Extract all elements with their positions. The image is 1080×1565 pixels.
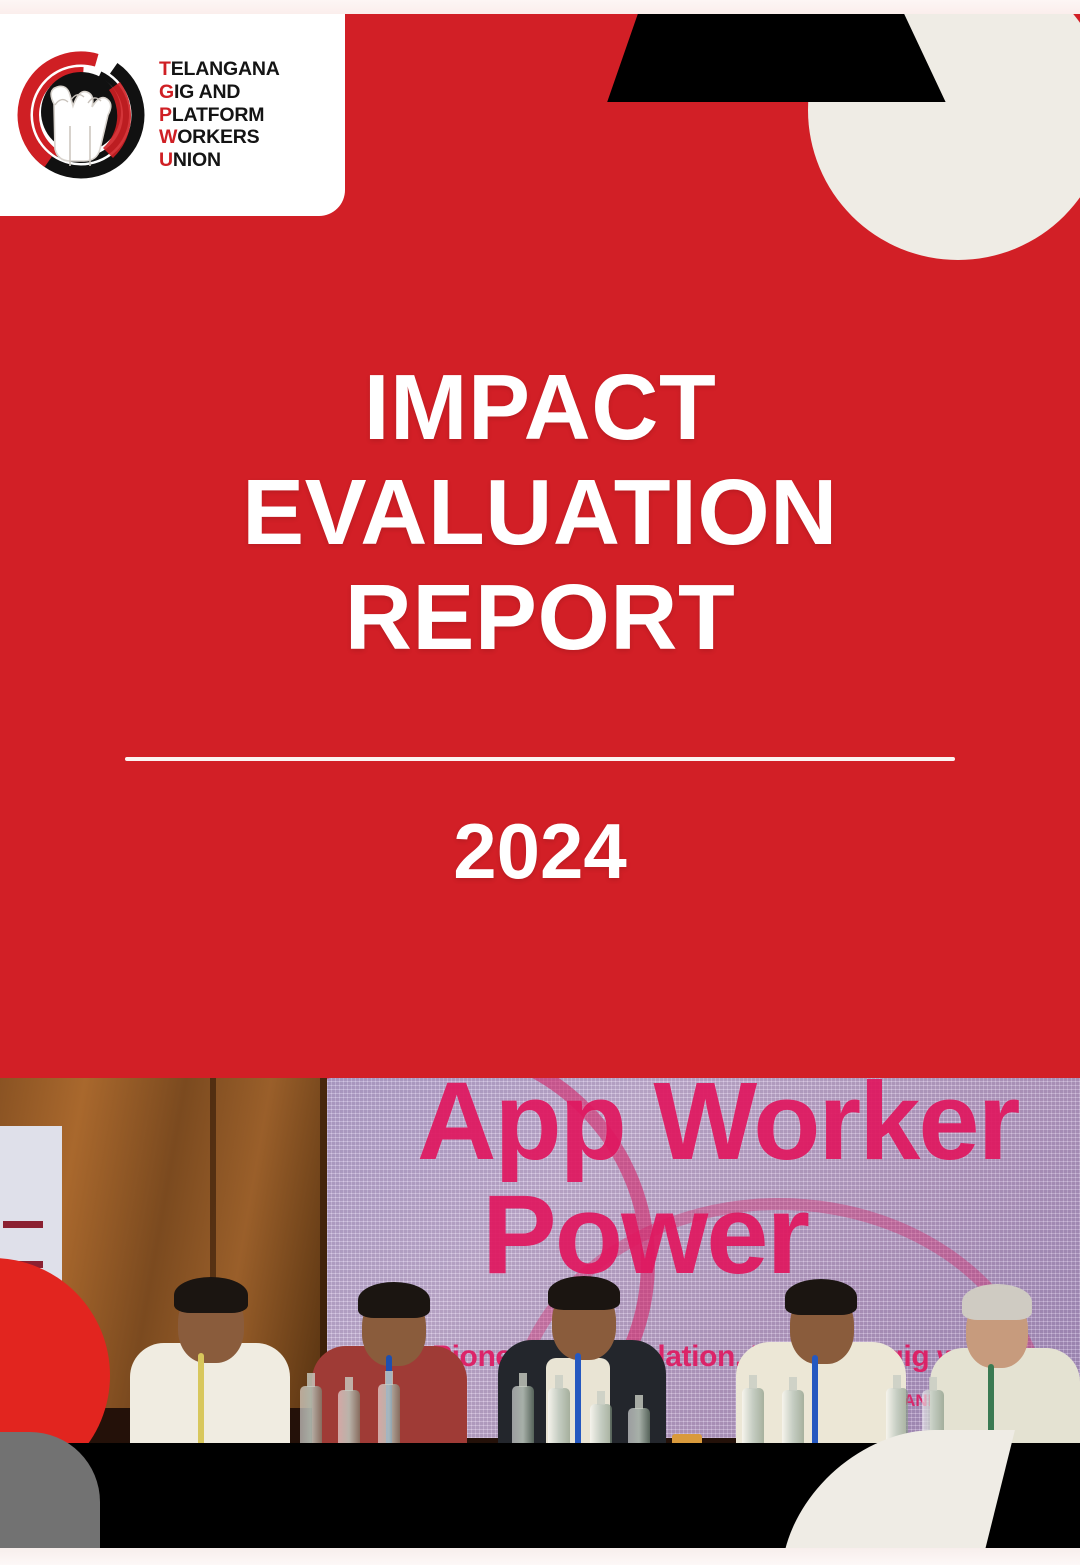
- cover-title-block: IMPACT EVALUATION REPORT: [0, 355, 1080, 670]
- bottom-edge-strip: [0, 1548, 1080, 1565]
- logo-line-1: TELANGANA: [159, 58, 280, 81]
- report-year: 2024: [0, 812, 1080, 890]
- title-line-3: REPORT: [0, 565, 1080, 670]
- logo-line-2: GIG AND: [159, 81, 280, 104]
- raised-fists-circle-logo-icon: [14, 48, 149, 183]
- union-logo-wordmark: TELANGANA GIG AND PLATFORM WORKERS UNION: [159, 58, 280, 171]
- title-divider-rule: [125, 757, 955, 761]
- black-trapezoid-decor: [600, 14, 960, 102]
- title-line-2: EVALUATION: [0, 460, 1080, 565]
- top-edge-strip: [0, 0, 1080, 14]
- report-cover-page: TELANGANA GIG AND PLATFORM WORKERS UNION…: [0, 0, 1080, 1565]
- led-headline-line-2: Power: [482, 1178, 808, 1292]
- page-title: IMPACT EVALUATION REPORT: [0, 355, 1080, 670]
- led-headline-line-1: App Worker: [417, 1078, 1018, 1178]
- union-logo-card: TELANGANA GIG AND PLATFORM WORKERS UNION: [0, 14, 345, 216]
- logo-line-4: WORKERS: [159, 126, 280, 149]
- logo-line-3: PLATFORM: [159, 104, 280, 127]
- title-line-1: IMPACT: [0, 355, 1080, 460]
- logo-line-5: UNION: [159, 149, 280, 172]
